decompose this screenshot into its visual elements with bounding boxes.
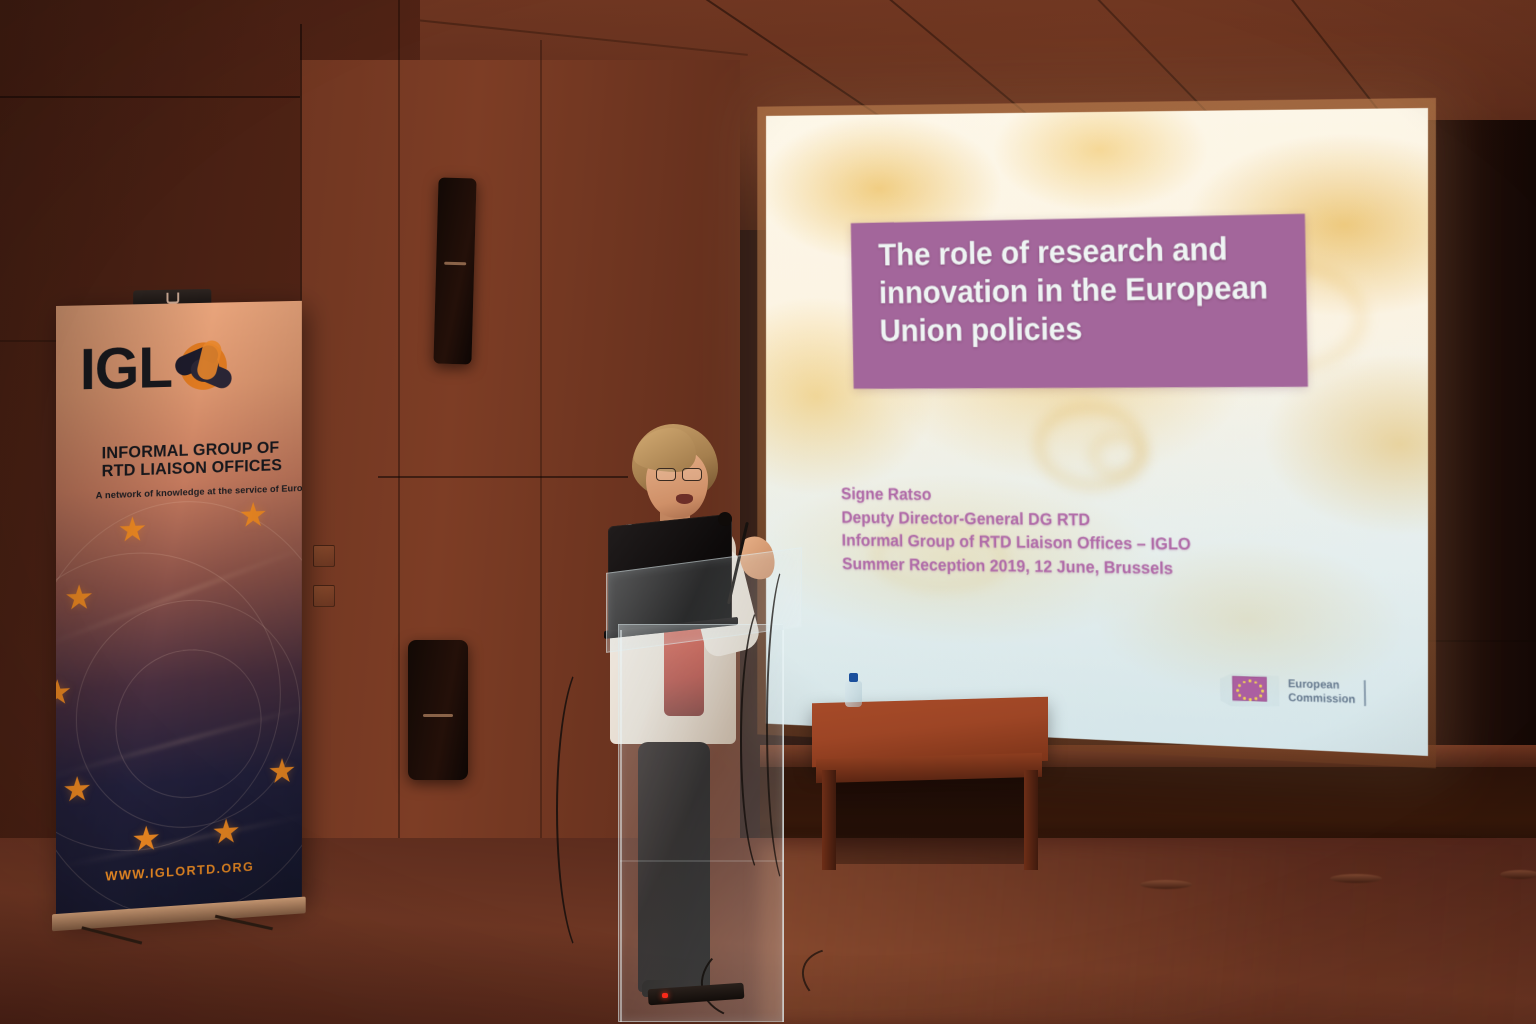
- bottle-cap: [849, 673, 858, 682]
- wall-seam: [398, 0, 400, 950]
- speaker-grille-logo: [423, 714, 453, 717]
- banner-shading: [56, 301, 302, 920]
- wall-power-outlet[interactable]: [313, 585, 335, 607]
- speaker-mouth: [676, 494, 693, 504]
- water-bottle: [845, 673, 862, 707]
- banner-face: ★ ★ ★ ★ ★ ★ ★ ★ IGL: [56, 301, 302, 920]
- projection-screen: The role of research and innovation in t…: [766, 108, 1428, 756]
- power-indicator-led: [662, 993, 668, 998]
- glasses-lens: [656, 468, 676, 481]
- speaker-hair-front: [634, 428, 696, 472]
- wall-seam: [0, 96, 300, 98]
- speaker-grille-logo: [444, 262, 466, 266]
- presentation-slide: The role of research and innovation in t…: [766, 108, 1428, 756]
- wall-seam: [540, 40, 542, 940]
- floor-cable: [766, 560, 810, 890]
- photo-scene: The role of research and innovation in t…: [0, 0, 1536, 1024]
- table-leg: [822, 770, 836, 870]
- slide-vignette: [766, 108, 1428, 756]
- table-shadow: [824, 772, 1036, 864]
- table-leg: [1024, 770, 1038, 870]
- banner-hook-icon: [166, 293, 179, 304]
- glasses-lens: [682, 468, 702, 481]
- floor-cable: [556, 660, 616, 960]
- bose-speaker-lower: [408, 640, 468, 780]
- microphone-head-icon: [718, 512, 732, 526]
- floor-socket-cover: [1330, 874, 1382, 883]
- bottle-body: [845, 681, 862, 707]
- floor-socket-cover: [1140, 880, 1192, 889]
- bose-speaker-upper: [433, 178, 476, 365]
- iglo-roll-up-banner: ★ ★ ★ ★ ★ ★ ★ ★ IGL: [56, 301, 302, 920]
- glasses-icon: [656, 468, 704, 482]
- floor-socket-cover: [1500, 870, 1536, 879]
- wall-control-plate[interactable]: [313, 545, 335, 567]
- lectern-edge: [620, 630, 622, 1022]
